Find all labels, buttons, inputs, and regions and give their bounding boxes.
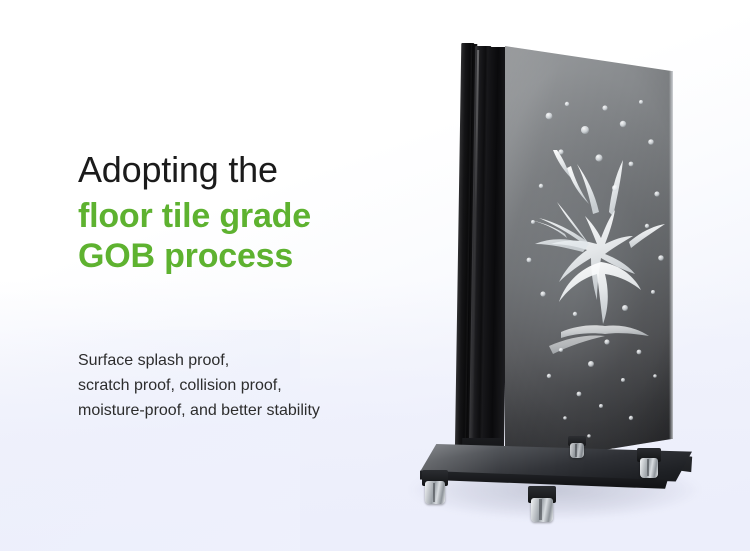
caster-wheel-front-left [422, 470, 448, 504]
caster-wheel [425, 481, 445, 504]
led-screen-vignette [505, 46, 673, 466]
headline-line-1: Adopting the [78, 148, 418, 192]
headline: Adopting the floor tile grade GOB proces… [78, 148, 418, 276]
caster-wheel-rear-inner [568, 436, 586, 458]
body-copy-line-2: scratch proof, collision proof, [78, 373, 418, 398]
body-copy-line-3: moisture-proof, and better stability [78, 398, 418, 423]
headline-line-3-accent: GOB process [78, 236, 418, 276]
body-copy: Surface splash proof, scratch proof, col… [78, 348, 418, 423]
product-image [400, 20, 730, 530]
body-copy-line-1: Surface splash proof, [78, 348, 418, 373]
headline-block: Adopting the floor tile grade GOB proces… [78, 148, 418, 276]
caster-wheel [570, 443, 584, 458]
caster-wheel-rear-right [637, 448, 661, 478]
promo-banner: Adopting the floor tile grade GOB proces… [0, 0, 750, 551]
caster-wheel [640, 458, 658, 478]
headline-line-2-accent: floor tile grade [78, 196, 418, 236]
caster-wheel [531, 498, 552, 522]
led-screen-right-edge [669, 46, 673, 466]
caster-wheel-front-center [528, 486, 556, 522]
led-screen-panel [505, 46, 673, 466]
